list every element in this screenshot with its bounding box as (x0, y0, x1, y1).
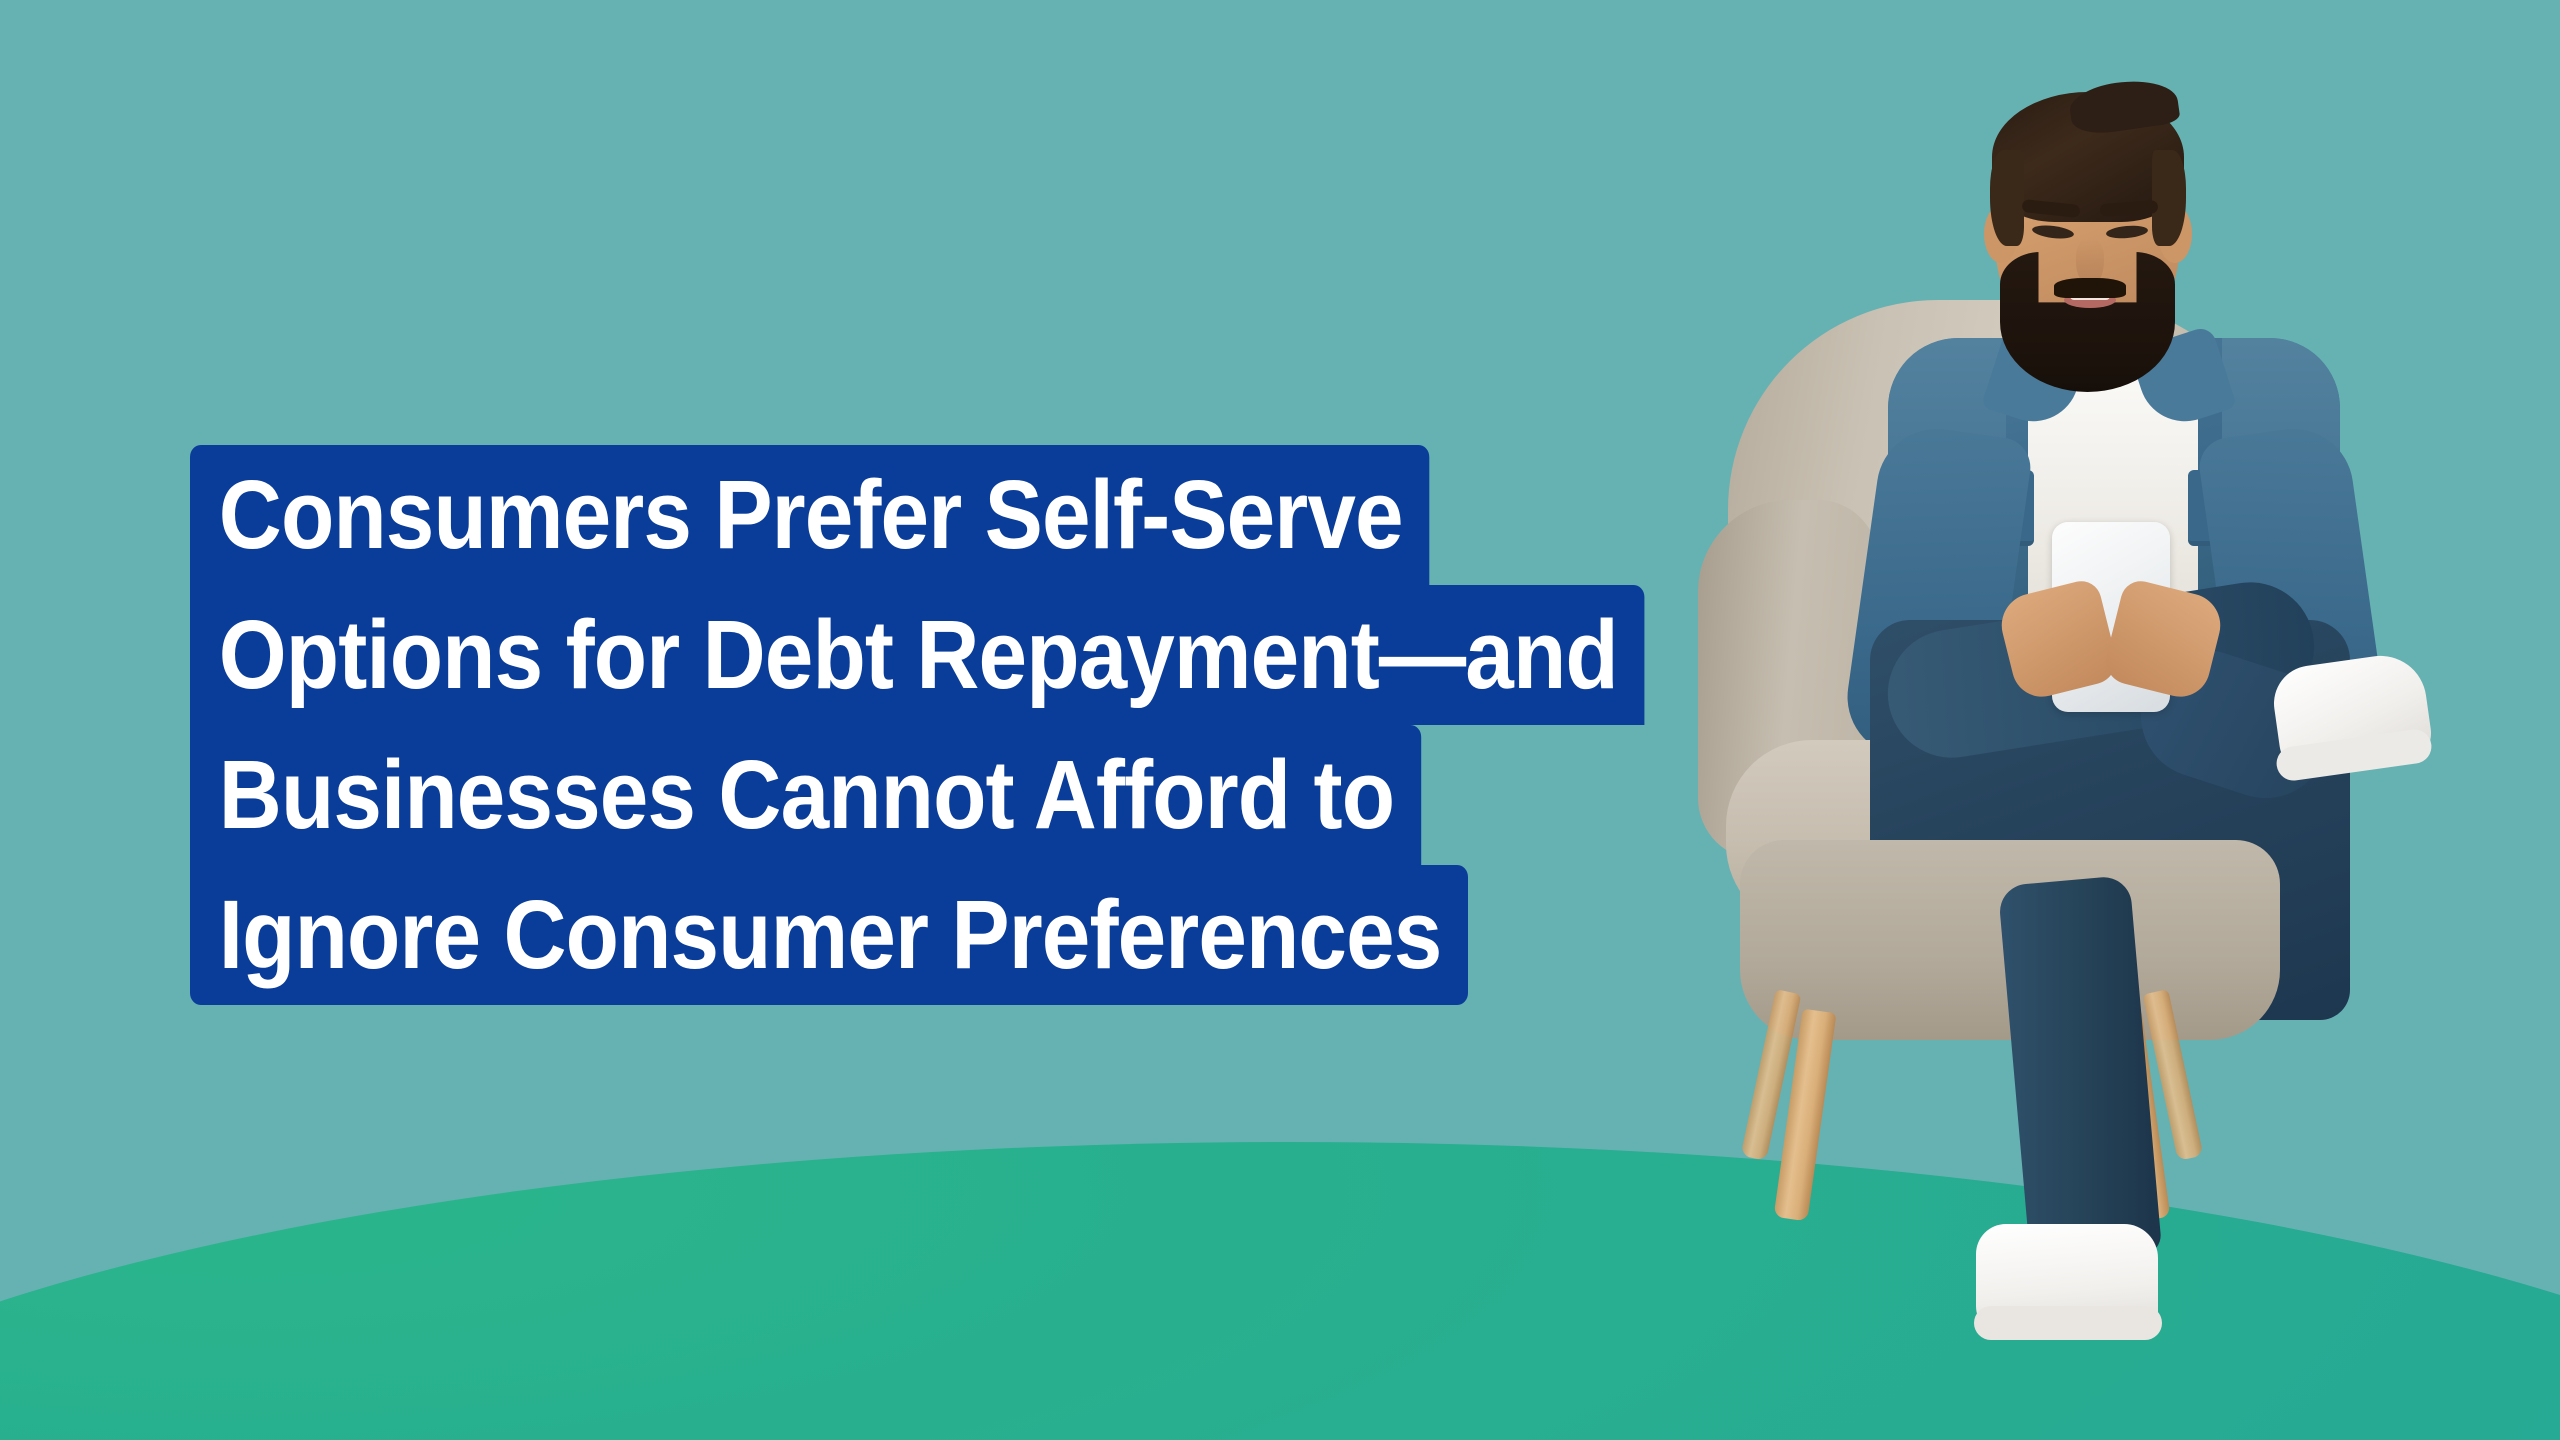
moustache (2054, 278, 2126, 298)
sneaker-lower-sole (1974, 1306, 2162, 1340)
headline-line-3-text: Businesses Cannot Afford to (219, 725, 1394, 865)
headline-line-4: Ignore Consumer Preferences (190, 865, 1468, 1005)
hair-fade-right (2152, 150, 2186, 246)
hair-fade-left (1990, 150, 2024, 246)
hero-banner: Consumers Prefer Self-Serve Options for … (0, 0, 2560, 1440)
headline-line-1-text: Consumers Prefer Self-Serve (219, 445, 1403, 585)
headline-line-1: Consumers Prefer Self-Serve (190, 445, 1430, 585)
headline-line-2: Options for Debt Repayment—and (190, 585, 1645, 725)
headline-line-4-text: Ignore Consumer Preferences (219, 865, 1442, 1005)
headline-block: Consumers Prefer Self-Serve Options for … (190, 445, 1806, 1005)
headline-line-2-text: Options for Debt Repayment—and (219, 585, 1618, 725)
headline-line-3: Businesses Cannot Afford to (190, 725, 1421, 865)
